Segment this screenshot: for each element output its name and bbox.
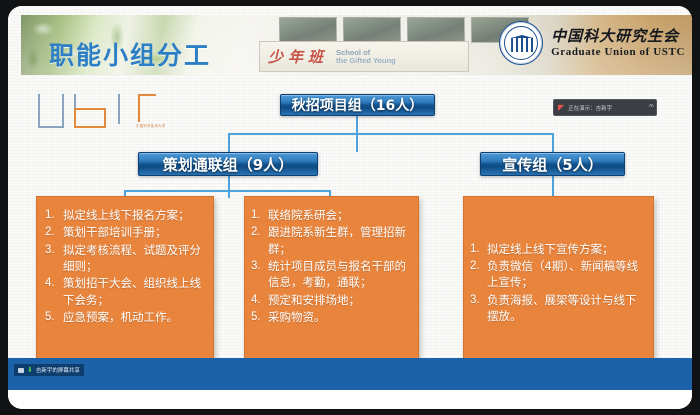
connector-left-split-horizontal [124,190,330,192]
duties-panel-planning-a: 拟定线上线下报名方案； 策划干部培训手册； 拟定考核流程、试题及评分细则； 策划… [36,196,214,358]
node-publicity-group[interactable]: 宣传组（5人） [480,152,625,176]
ustc-watermark-caption: 中国科学技术大学 [136,124,166,129]
graduate-union-logo: 中国科大研究生会 Graduate Union of USTC [499,21,685,65]
banner-building-windows [279,17,529,43]
gifted-young-sign-en: School of the Gifted Young [336,49,396,65]
connector-horizontal-main [228,133,553,135]
list-item: 策划干部培训手册； [43,224,205,240]
presenting-status-label: 正在演示：吉新宇 [568,104,612,112]
shared-screen-window: 少年班 School of the Gifted Young 职能小组分工 中国… [8,6,692,409]
node-root-autumn-recruitment[interactable]: 秋招项目组（16人） [280,94,435,116]
ustc-logo-watermark: 中国科学技术大学 [38,94,158,144]
sign-en-line2: the Gifted Young [336,56,396,65]
meeting-bottom-bar: ⬇ 吉新宇的屏幕共享 [8,358,692,390]
record-icon: ◤ [558,103,564,112]
list-item: 拟定线上线下报名方案； [43,207,205,223]
connector-right-node-down [552,176,554,198]
list-item: 负责海报、展架等设计与线下摆放。 [470,292,645,325]
list-item: 拟定考核流程、试题及评分细则； [43,242,205,275]
node-planning-liaison-group[interactable]: 策划通联组（9人） [138,152,318,176]
list-item: 统计项目成员与报名干部的信息，考勤，通联； [251,258,410,291]
list-item: 拟定线上线下宣传方案； [470,241,645,257]
gifted-young-sign-cn: 少年班 [268,46,328,67]
gifted-young-sign: 少年班 School of the Gifted Young [259,41,469,72]
duties-list: 联络院系研会； 跟进院系新生群，管理招新群； 统计项目成员与报名干部的信息，考勤… [251,207,410,325]
page-title: 职能小组分工 [49,36,211,72]
connector-left-branch-down [228,133,230,152]
list-item: 预定和安排场地； [251,292,410,308]
connector-right-branch-down [552,133,554,152]
duties-panel-publicity: 拟定线上线下宣传方案； 负责微信（4期）、新闻稿等线上宣传； 负责海报、展架等设… [463,196,654,358]
list-item: 跟进院系新生群，管理招新群； [251,224,410,257]
slide-header-banner: 少年班 School of the Gifted Young 职能小组分工 中国… [21,15,692,75]
list-item: 联络院系研会； [251,207,410,223]
screen-share-icon [18,368,24,373]
ustc-seal-icon [499,21,543,65]
list-item: 负责微信（4期）、新闻稿等线上宣传； [470,258,645,291]
graduate-union-name-cn: 中国科大研究生会 [551,27,685,46]
window-bottom-area [8,390,692,409]
list-item: 策划招干大会、组织线上线下会务； [43,275,205,308]
duties-list: 拟定线上线下报名方案； 策划干部培训手册； 拟定考核流程、试题及评分细则； 策划… [43,207,205,325]
screen-frame: 少年班 School of the Gifted Young 职能小组分工 中国… [0,0,700,415]
presentation-slide: 少年班 School of the Gifted Young 职能小组分工 中国… [8,6,692,358]
screen-share-indicator[interactable]: ⬇ 吉新宇的屏幕共享 [14,364,84,376]
list-item: 应急预案，机动工作。 [43,309,205,325]
presenting-toolbar[interactable]: ◤ 正在演示：吉新宇 ^^ [553,99,657,116]
connector-left-node-down [228,176,230,198]
duties-panel-planning-b: 联络院系研会； 跟进院系新生群，管理招新群； 统计项目成员与报名干部的信息，考勤… [244,196,419,358]
graduate-union-text: 中国科大研究生会 Graduate Union of USTC [551,27,685,60]
chevron-up-icon[interactable]: ^^ [648,103,652,112]
duties-list: 拟定线上线下宣传方案； 负责微信（4期）、新闻稿等线上宣传； 负责海报、展架等设… [470,241,645,326]
list-item: 采购物资。 [251,309,410,325]
screen-share-label: 吉新宇的屏幕共享 [36,366,80,374]
download-arrow-icon: ⬇ [27,367,33,374]
graduate-union-name-en: Graduate Union of USTC [551,46,685,60]
